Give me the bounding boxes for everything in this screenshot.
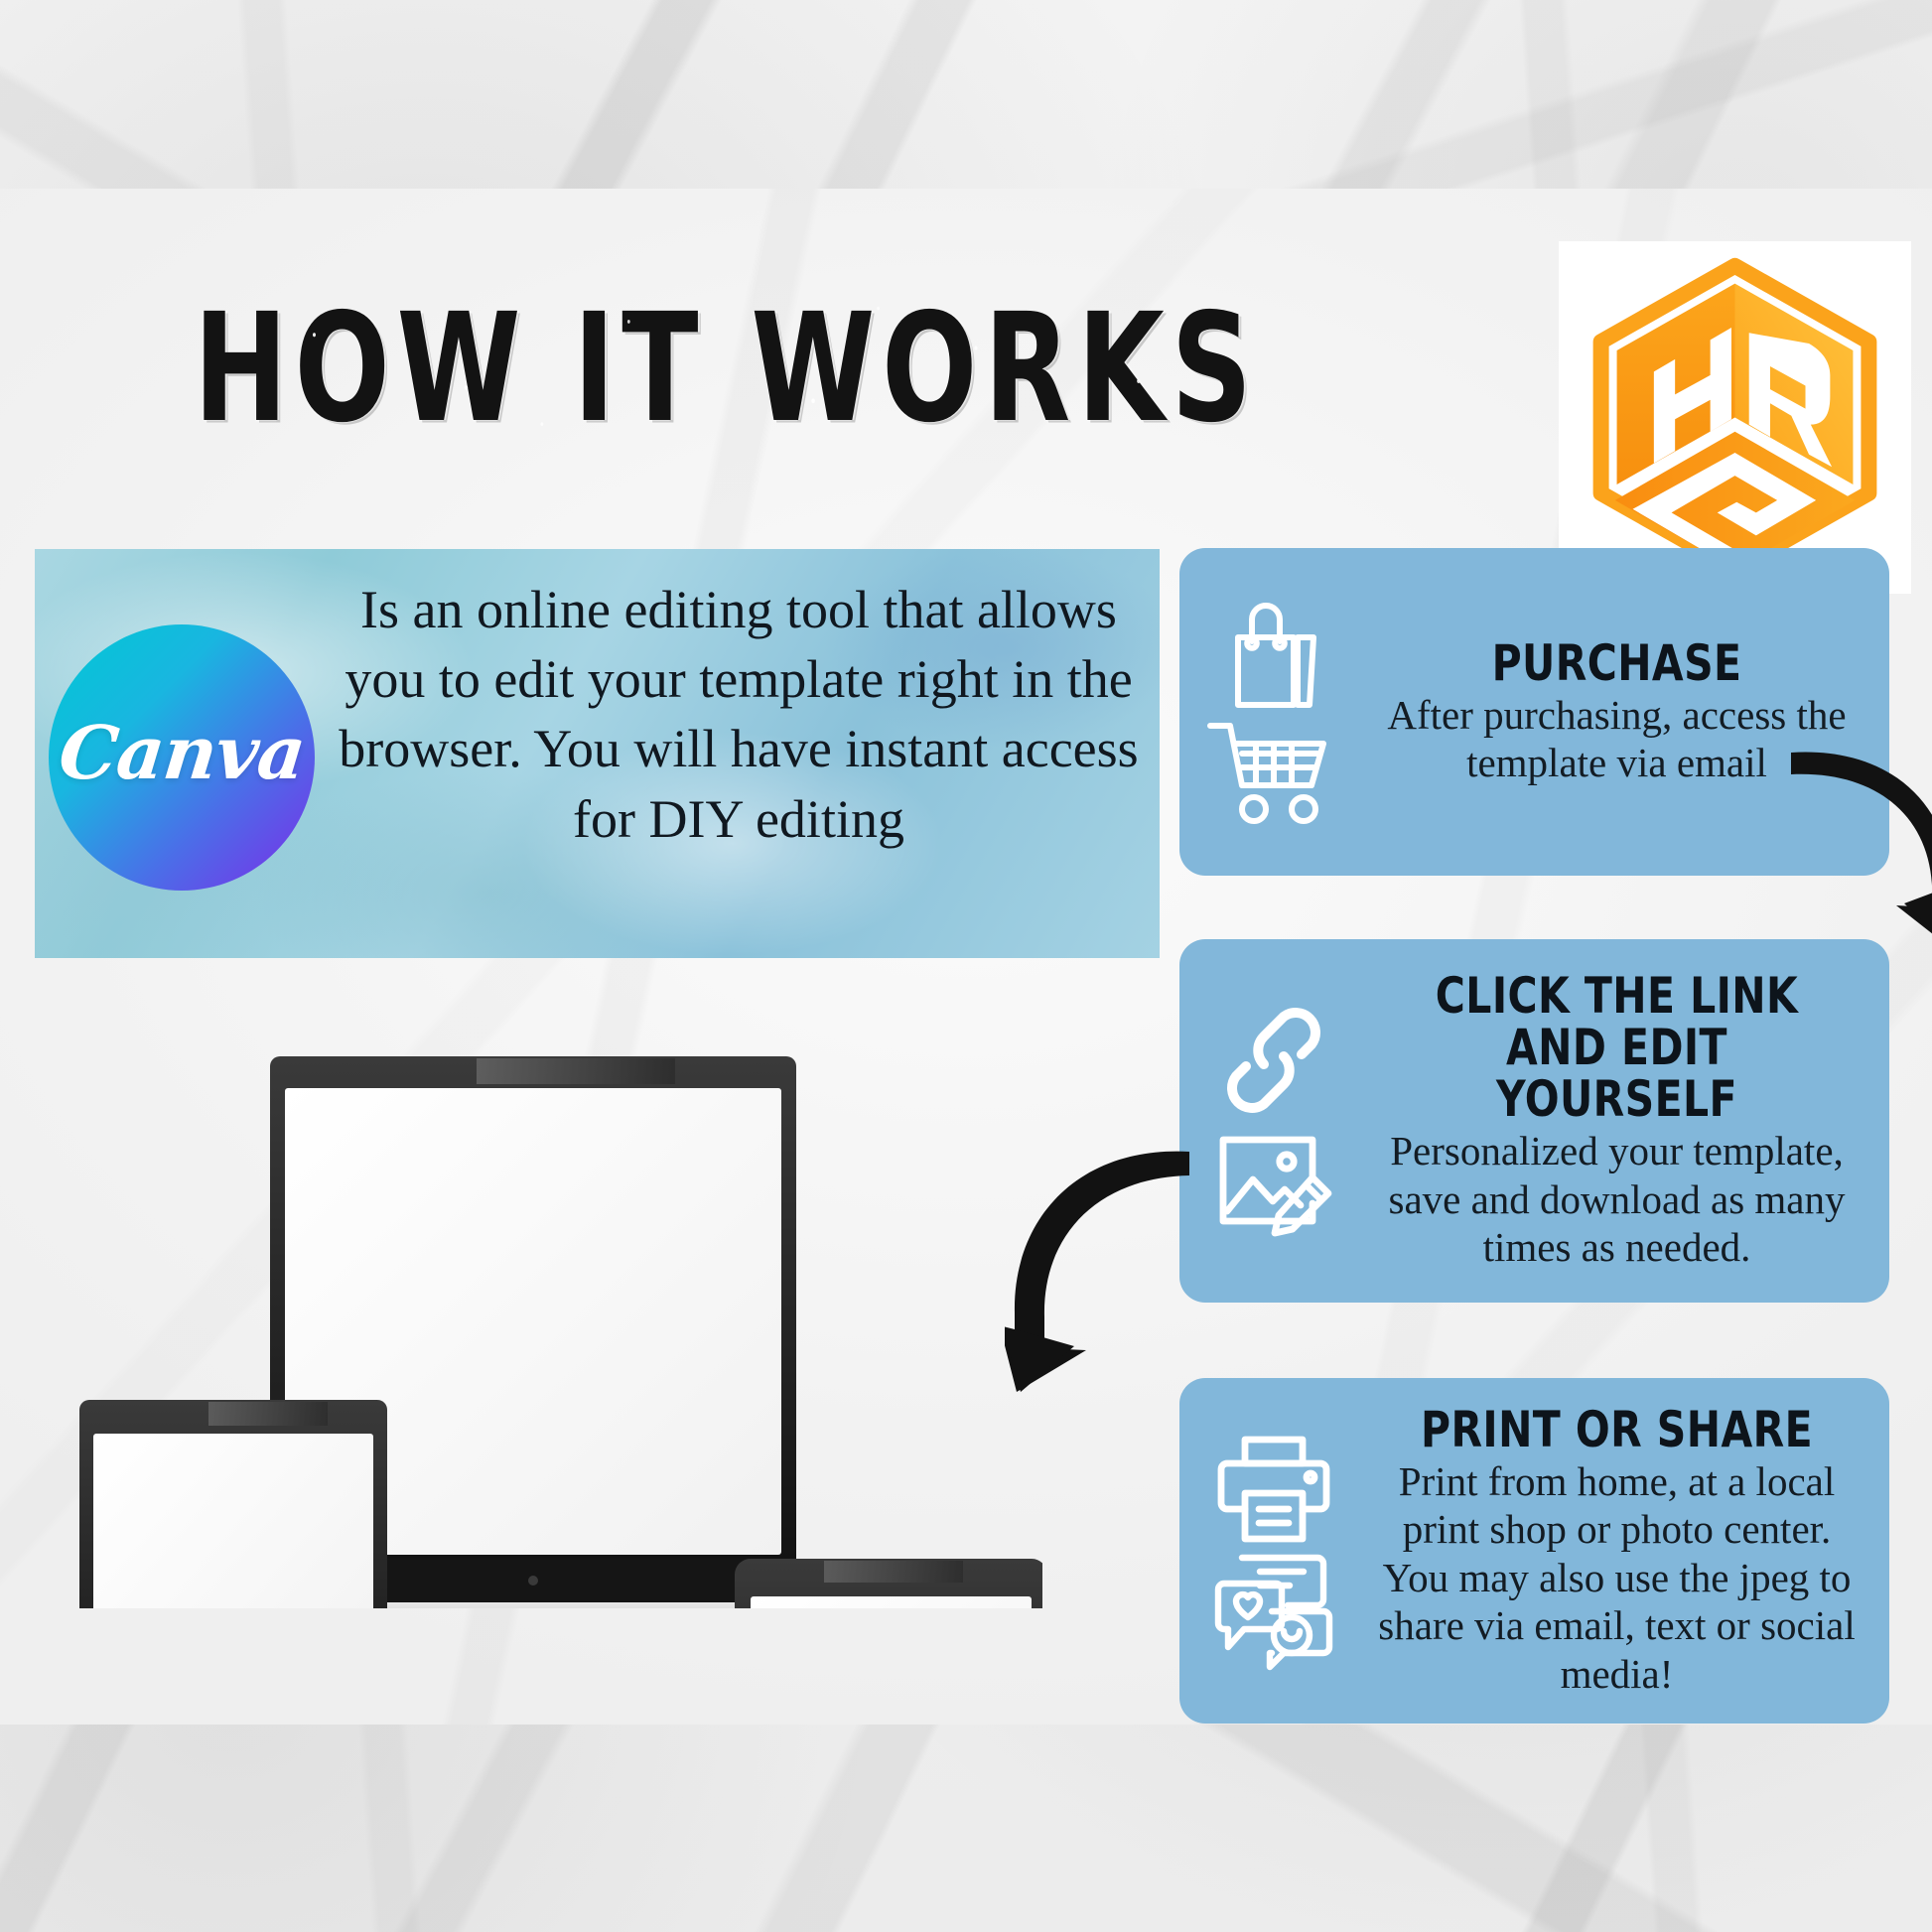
purchase-heading: PURCHASE xyxy=(1413,637,1821,689)
purchase-icon-group xyxy=(1179,594,1368,830)
curved-arrow-2 xyxy=(1005,1142,1203,1440)
link-chain-icon xyxy=(1210,1002,1337,1119)
canva-logo-icon: Canva xyxy=(49,624,315,891)
hrg-cube-icon xyxy=(1559,241,1911,594)
curved-arrow-1 xyxy=(1777,737,1932,1025)
print-share-heading: PRINT OR SHARE xyxy=(1413,1404,1821,1455)
canva-description: Is an online editing tool that allows yo… xyxy=(333,575,1145,854)
devices-illustration xyxy=(40,1052,1042,1608)
printer-icon xyxy=(1211,1431,1336,1548)
arrow-purchase-to-edit-icon xyxy=(1777,737,1932,1025)
infographic-canvas: HOW IT WORKS xyxy=(0,0,1932,1932)
click-edit-heading: CLICK THE LINK AND EDIT YOURSELF xyxy=(1413,970,1821,1125)
print-share-text-block: PRINT OR SHARE Print from home, at a loc… xyxy=(1368,1404,1889,1698)
hrg-logo xyxy=(1559,241,1911,594)
social-share-icon xyxy=(1208,1552,1339,1671)
canva-info-panel: Canva Is an online editing tool that all… xyxy=(35,549,1160,958)
print-share-icon-group xyxy=(1179,1431,1368,1671)
click-edit-body: Personalized your template, save and dow… xyxy=(1368,1127,1865,1271)
shopping-cart-icon xyxy=(1204,713,1343,830)
step-card-print-share[interactable]: PRINT OR SHARE Print from home, at a loc… xyxy=(1179,1378,1889,1724)
click-edit-icon-group xyxy=(1179,1002,1368,1240)
image-edit-icon xyxy=(1209,1123,1338,1240)
tablet-mockup xyxy=(735,1559,1042,1608)
device-mockups xyxy=(40,1052,1042,1608)
print-share-body: Print from home, at a local print shop o… xyxy=(1368,1457,1865,1698)
page-title: HOW IT WORKS xyxy=(194,293,1259,443)
canva-logo-label: Canva xyxy=(55,711,309,796)
arrow-edit-to-print-icon xyxy=(1005,1142,1203,1440)
laptop-mockup xyxy=(40,1400,443,1608)
shopping-bag-icon xyxy=(1209,594,1338,713)
